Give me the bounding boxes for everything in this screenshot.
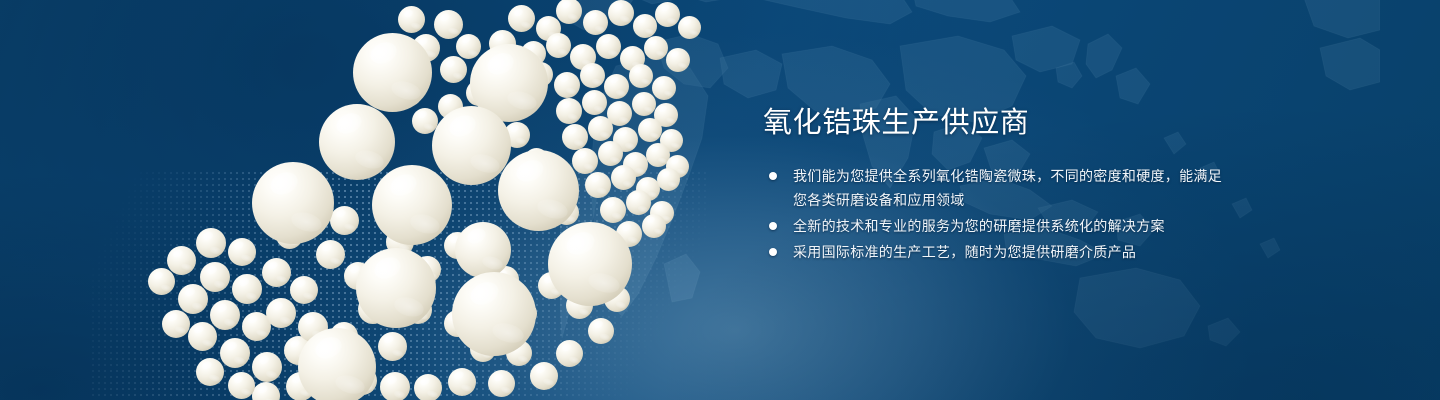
page-title: 氧化锆珠生产供应商 bbox=[763, 104, 1233, 142]
bullet-dot-icon bbox=[769, 172, 777, 180]
list-item: 采用国际标准的生产工艺，随时为您提供研磨介质产品 bbox=[763, 240, 1233, 264]
list-item-text: 采用国际标准的生产工艺，随时为您提供研磨介质产品 bbox=[793, 244, 1136, 260]
list-item: 我们能为您提供全系列氧化锆陶瓷微珠，不同的密度和硬度，能满足您各类研磨设备和应用… bbox=[763, 164, 1233, 212]
feature-list: 我们能为您提供全系列氧化锆陶瓷微珠，不同的密度和硬度，能满足您各类研磨设备和应用… bbox=[763, 164, 1233, 264]
bullet-dot-icon bbox=[769, 248, 777, 256]
hero-banner: 氧化锆珠生产供应商 我们能为您提供全系列氧化锆陶瓷微珠，不同的密度和硬度，能满足… bbox=[0, 0, 1440, 400]
list-item-text: 我们能为您提供全系列氧化锆陶瓷微珠，不同的密度和硬度，能满足您各类研磨设备和应用… bbox=[793, 168, 1222, 208]
banner-copy: 氧化锆珠生产供应商 我们能为您提供全系列氧化锆陶瓷微珠，不同的密度和硬度，能满足… bbox=[763, 104, 1233, 266]
list-item: 全新的技术和专业的服务为您的研磨提供系统化的解决方案 bbox=[763, 214, 1233, 238]
bullet-dot-icon bbox=[769, 222, 777, 230]
list-item-text: 全新的技术和专业的服务为您的研磨提供系统化的解决方案 bbox=[793, 218, 1165, 234]
